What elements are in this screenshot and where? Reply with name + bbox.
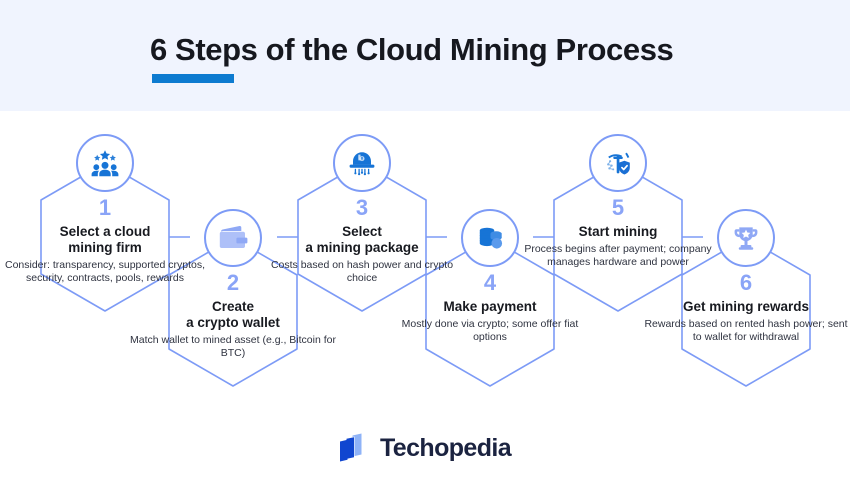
step-4-description: Mostly done via crypto; some offer fiat … xyxy=(385,318,595,344)
step-2-title-line2: a crypto wallet xyxy=(128,315,338,331)
step-6-number: 6 xyxy=(641,271,850,295)
page-title: 6 Steps of the Cloud Mining Process xyxy=(150,32,673,68)
step-1-number: 1 xyxy=(0,196,210,220)
mining-helmet-icon xyxy=(333,134,391,192)
title-accent-underline xyxy=(152,74,234,83)
brand-name: Techopedia xyxy=(380,434,511,463)
coins-stack-icon xyxy=(461,209,519,267)
step-5-number: 5 xyxy=(513,196,723,220)
techopedia-logo[interactable]: Techopedia xyxy=(339,433,511,463)
step-6-description: Rewards based on rented hash power; sent… xyxy=(641,318,850,344)
step-3-title: Select a mining package xyxy=(257,224,467,256)
step-1-title-line1: Select a cloud xyxy=(0,224,210,240)
step-4-number: 4 xyxy=(385,271,595,295)
footer: Techopedia xyxy=(0,411,850,485)
step-2-description: Match wallet to mined asset (e.g., Bitco… xyxy=(128,334,338,360)
step-5-title-line1: Start mining xyxy=(513,224,723,240)
people-stars-icon xyxy=(76,134,134,192)
step-6-title: Get mining rewards xyxy=(641,299,850,315)
step-1-title: Select a cloud mining firm xyxy=(0,224,210,256)
step-2-title-line1: Create xyxy=(128,299,338,315)
step-6-title-line1: Get mining rewards xyxy=(641,299,850,315)
step-5-title: Start mining xyxy=(513,224,723,240)
infographic-root: 6 Steps of the Cloud Mining Process xyxy=(0,0,850,485)
step-4-title: Make payment xyxy=(385,299,595,315)
step-1-title-line2: mining firm xyxy=(0,240,210,256)
step-3-title-line2: a mining package xyxy=(257,240,467,256)
step-4-title-line1: Make payment xyxy=(385,299,595,315)
step-3-number: 3 xyxy=(257,196,467,220)
step-5-body: 5 Start mining Process begins after paym… xyxy=(513,196,723,269)
techopedia-logo-mark xyxy=(339,433,371,463)
steps-hexagon-board: 1 Select a cloud mining firm Consider: t… xyxy=(0,111,850,411)
wallet-icon xyxy=(204,209,262,267)
step-5-description: Process begins after payment; company ma… xyxy=(513,243,723,269)
header-band: 6 Steps of the Cloud Mining Process xyxy=(0,0,850,111)
step-2-title: Create a crypto wallet xyxy=(128,299,338,331)
trophy-icon xyxy=(717,209,775,267)
step-6-body: 6 Get mining rewards Rewards based on re… xyxy=(641,271,850,344)
step-3-title-line1: Select xyxy=(257,224,467,240)
step-4-body: 4 Make payment Mostly done via crypto; s… xyxy=(385,271,595,344)
pickaxe-shield-icon xyxy=(589,134,647,192)
